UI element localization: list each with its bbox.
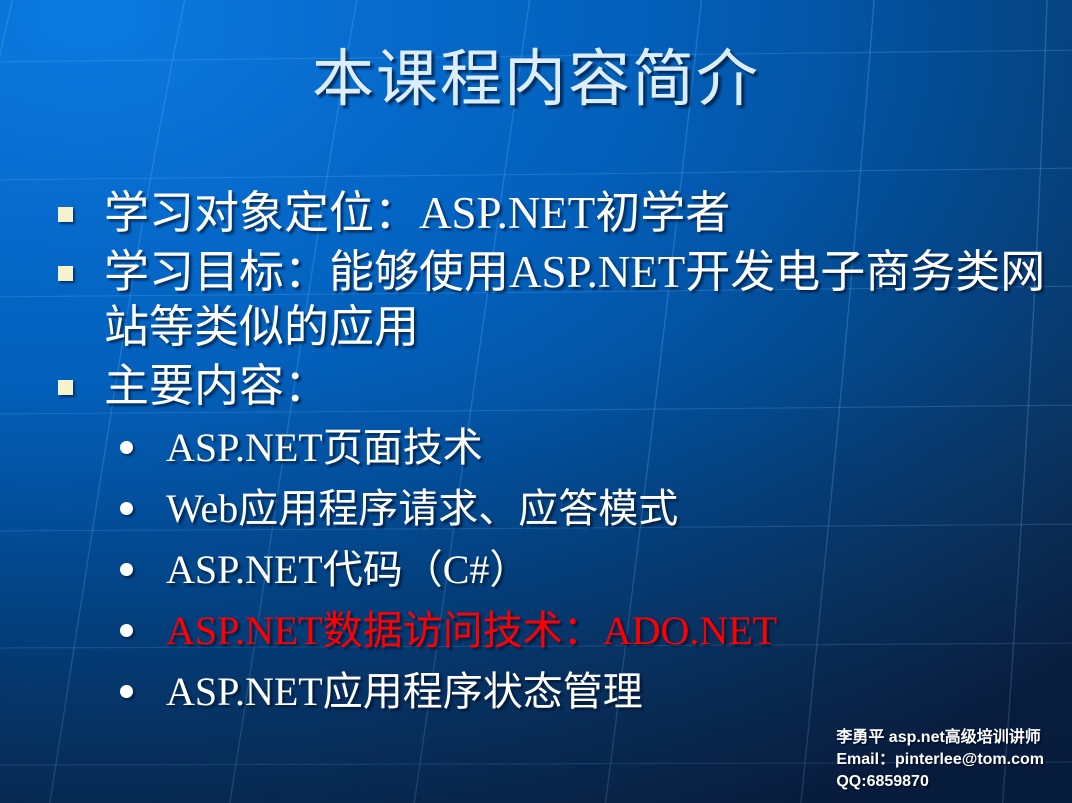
slide-body: 学习对象定位：ASP.NET初学者 学习目标：能够使用ASP.NET开发电子商务… bbox=[52, 186, 1052, 724]
presentation-slide: 本课程内容简介 学习对象定位：ASP.NET初学者 学习目标：能够使用ASP.N… bbox=[0, 0, 1072, 803]
slide-title: 本课程内容简介 bbox=[0, 48, 1072, 113]
bullet-text: 学习对象定位：ASP.NET初学者 bbox=[104, 188, 730, 238]
bullet-item-level1: 学习目标：能够使用ASP.NET开发电子商务类网站等类似的应用 bbox=[52, 245, 1052, 355]
bullet-item-level2: ASP.NET页面技术 bbox=[52, 418, 1052, 477]
bullet-text: ASP.NET应用程序状态管理 bbox=[166, 669, 643, 714]
bullet-item-level2: ASP.NET代码（C#） bbox=[52, 540, 1052, 599]
bullet-item-level1: 学习对象定位：ASP.NET初学者 bbox=[52, 186, 1052, 241]
square-bullet-icon bbox=[58, 380, 73, 395]
round-bullet-icon bbox=[120, 441, 133, 454]
bullet-text: Web应用程序请求、应答模式 bbox=[166, 486, 678, 531]
round-bullet-icon bbox=[120, 685, 133, 698]
presenter-email: Email：pinterlee@tom.com bbox=[836, 749, 1044, 771]
bullet-text: ASP.NET页面技术 bbox=[166, 425, 483, 470]
round-bullet-icon bbox=[120, 624, 133, 637]
presenter-name-and-role: 李勇平 asp.net高级培训讲师 bbox=[836, 727, 1044, 749]
square-bullet-icon bbox=[58, 207, 73, 222]
bullet-item-level2-highlighted: ASP.NET数据访问技术：ADO.NET bbox=[52, 601, 1052, 660]
square-bullet-icon bbox=[58, 266, 73, 281]
bullet-text: ASP.NET代码（C#） bbox=[166, 547, 529, 592]
bullet-text: ASP.NET数据访问技术：ADO.NET bbox=[166, 608, 777, 653]
round-bullet-icon bbox=[120, 563, 133, 576]
presenter-qq: QQ:6859870 bbox=[836, 771, 1044, 793]
presenter-credit: 李勇平 asp.net高级培训讲师 Email：pinterlee@tom.co… bbox=[836, 727, 1044, 793]
bullet-item-level2: ASP.NET应用程序状态管理 bbox=[52, 662, 1052, 721]
round-bullet-icon bbox=[120, 502, 133, 515]
bullet-item-level1: 主要内容： bbox=[52, 359, 1052, 414]
bullet-text: 学习目标：能够使用ASP.NET开发电子商务类网站等类似的应用 bbox=[104, 247, 1045, 352]
bullet-item-level2: Web应用程序请求、应答模式 bbox=[52, 479, 1052, 538]
bullet-text: 主要内容： bbox=[104, 361, 329, 411]
